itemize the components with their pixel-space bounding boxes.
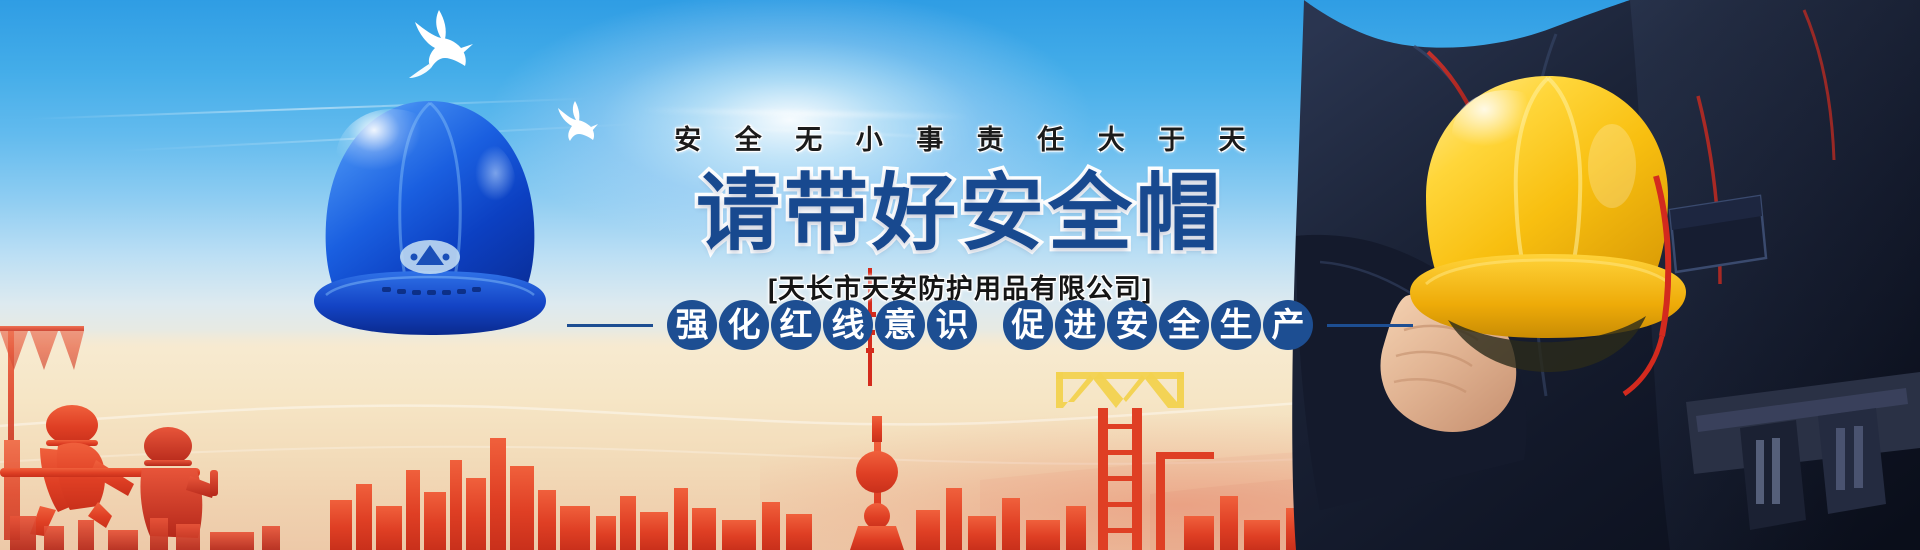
slogan-chip: 化 <box>719 300 769 350</box>
slogan-chips-right: 促 进 安 全 生 产 <box>1003 300 1313 350</box>
slogan-chip: 意 <box>875 300 925 350</box>
slogan-chip: 产 <box>1263 300 1313 350</box>
slogan-chip: 全 <box>1159 300 1209 350</box>
slogan-rule-right <box>1327 324 1413 327</box>
slogan-strip: 强 化 红 线 意 识 促 进 安 全 生 产 <box>480 300 1500 350</box>
dove-icon <box>552 100 598 148</box>
slogan-chip: 生 <box>1211 300 1261 350</box>
slogan-rule-left <box>567 324 653 327</box>
slogan-chip: 进 <box>1055 300 1105 350</box>
tagline: 安 全 无 小 事 责 任 大 于 天 <box>600 118 1320 157</box>
dove-icon <box>405 8 475 80</box>
page-title: 请带好安全帽 <box>600 171 1320 255</box>
city-skyline-icon <box>916 488 1086 550</box>
tv-tower-icon <box>850 416 904 550</box>
slogan-chip: 红 <box>771 300 821 350</box>
headline-text-block: 安 全 无 小 事 责 任 大 于 天 请带好安全帽 [天长市天安防护用品有限公… <box>600 118 1320 306</box>
safety-banner: 安 全 无 小 事 责 任 大 于 天 请带好安全帽 [天长市天安防护用品有限公… <box>0 0 1920 550</box>
slogan-chip: 线 <box>823 300 873 350</box>
slogan-chip: 强 <box>667 300 717 350</box>
slogan-chip: 识 <box>927 300 977 350</box>
slogan-chips-left: 强 化 红 线 意 识 <box>667 300 977 350</box>
slogan-chip: 促 <box>1003 300 1053 350</box>
city-skyline-icon <box>330 438 812 550</box>
slogan-chip: 安 <box>1107 300 1157 350</box>
helmet-emblem-icon <box>400 240 460 274</box>
